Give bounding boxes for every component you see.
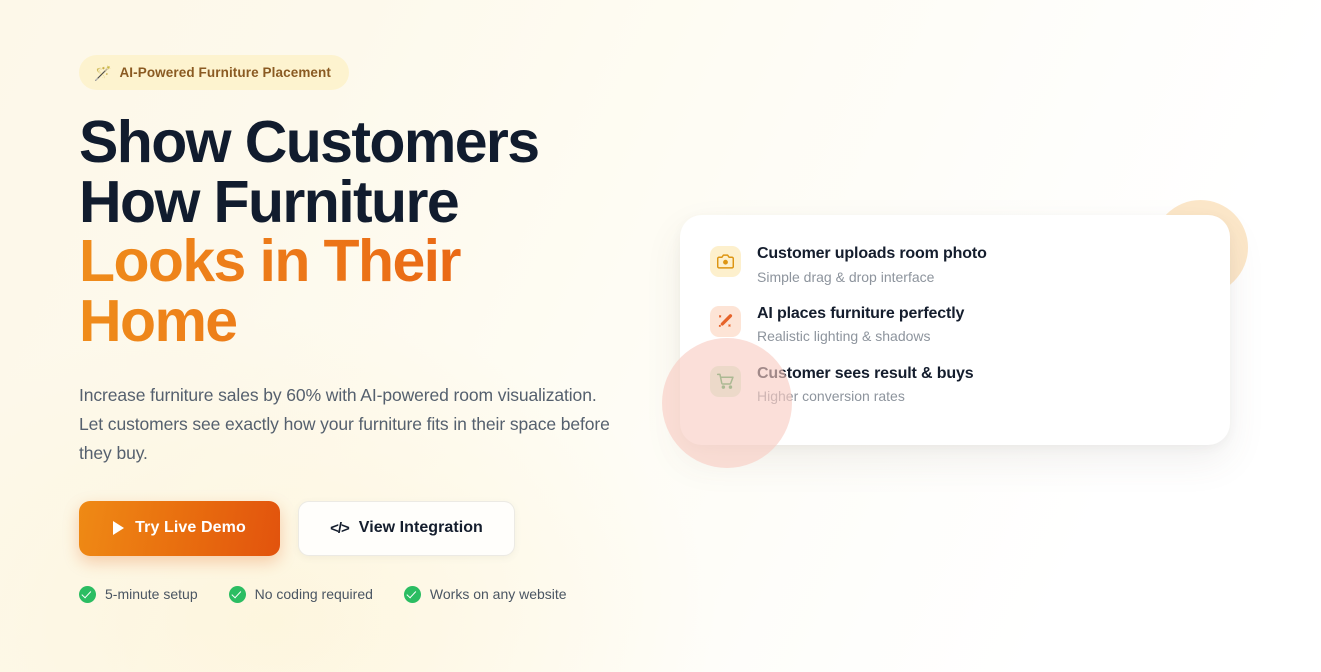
- camera-icon: [710, 246, 741, 277]
- badge-ai-powered: 🪄 AI-Powered Furniture Placement: [79, 55, 349, 90]
- step-title: Customer sees result & buys: [757, 365, 973, 382]
- cta-button-row: Try Live Demo </> View Integration: [79, 501, 689, 556]
- hero-section: 🪄 AI-Powered Furniture Placement Show Cu…: [0, 0, 1321, 672]
- check-circle-icon: [229, 586, 246, 603]
- feature-check-label: 5-minute setup: [105, 586, 198, 602]
- step-subtitle: Simple drag & drop interface: [757, 267, 987, 287]
- page-title: Show Customers How Furniture Looks in Th…: [79, 113, 689, 351]
- headline-line-2: How Furniture: [79, 173, 689, 233]
- feature-check-item: Works on any website: [404, 586, 567, 603]
- magic-wand-icon: [710, 306, 741, 337]
- step-text: AI places furniture perfectly Realistic …: [757, 303, 964, 347]
- feature-check-item: No coding required: [229, 586, 373, 603]
- check-circle-icon: [404, 586, 421, 603]
- try-live-demo-label: Try Live Demo: [135, 519, 246, 537]
- check-circle-icon: [79, 586, 96, 603]
- view-integration-label: View Integration: [359, 519, 483, 537]
- step-title: Customer uploads room photo: [757, 245, 987, 262]
- hero-right-visual: Customer uploads room photo Simple drag …: [640, 175, 1300, 505]
- headline-line-3: Looks in Their: [79, 232, 689, 292]
- feature-check-row: 5-minute setup No coding required Works …: [79, 586, 689, 603]
- step-subtitle: Realistic lighting & shadows: [757, 326, 964, 346]
- headline-line-4: Home: [79, 292, 689, 352]
- hero-left-column: 🪄 AI-Powered Furniture Placement Show Cu…: [79, 55, 689, 603]
- badge-label: AI-Powered Furniture Placement: [119, 65, 331, 80]
- shopping-cart-icon: [710, 366, 741, 397]
- step-item: Customer uploads room photo Simple drag …: [710, 243, 1200, 287]
- step-item: AI places furniture perfectly Realistic …: [710, 303, 1200, 347]
- view-integration-button[interactable]: </> View Integration: [298, 501, 515, 556]
- hero-subtext: Increase furniture sales by 60% with AI-…: [79, 381, 624, 468]
- code-icon: </>: [330, 520, 349, 537]
- step-subtitle: Higher conversion rates: [757, 386, 973, 406]
- play-icon: [113, 521, 124, 535]
- headline-line-1: Show Customers: [79, 113, 689, 173]
- step-text: Customer sees result & buys Higher conve…: [757, 363, 973, 407]
- step-title: AI places furniture perfectly: [757, 305, 964, 322]
- step-item: Customer sees result & buys Higher conve…: [710, 363, 1200, 407]
- feature-check-label: No coding required: [255, 586, 373, 602]
- feature-check-label: Works on any website: [430, 586, 567, 602]
- try-live-demo-button[interactable]: Try Live Demo: [79, 501, 280, 556]
- magic-wand-icon: 🪄: [94, 66, 111, 80]
- step-text: Customer uploads room photo Simple drag …: [757, 243, 987, 287]
- steps-card: Customer uploads room photo Simple drag …: [680, 215, 1230, 445]
- feature-check-item: 5-minute setup: [79, 586, 198, 603]
